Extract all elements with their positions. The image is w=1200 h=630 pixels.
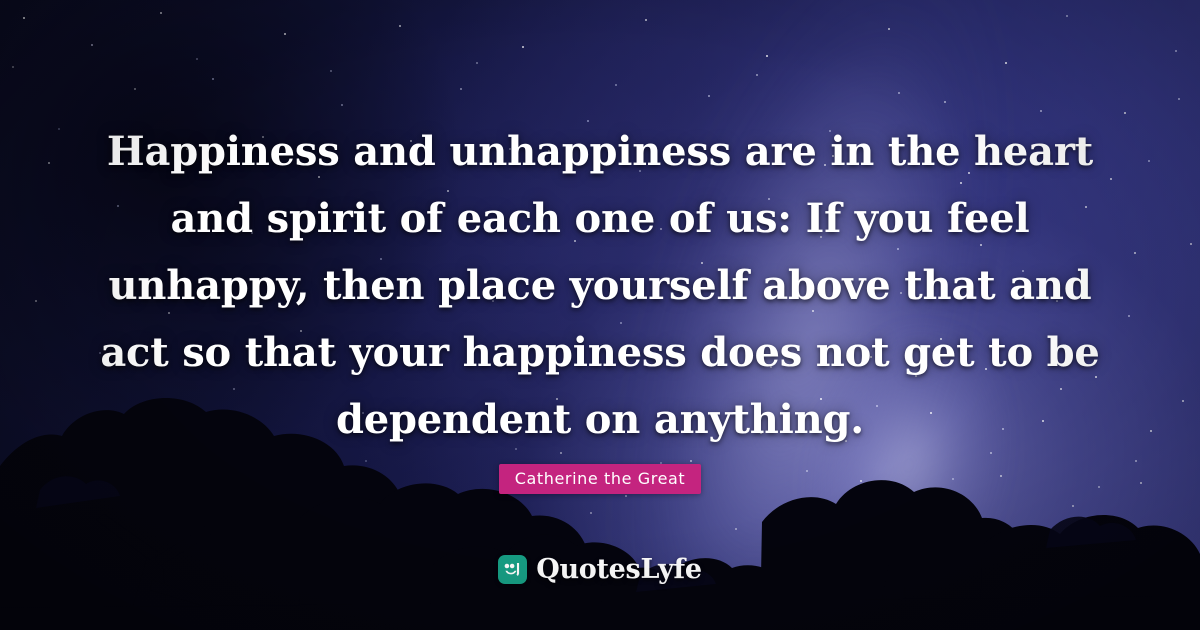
- quote-bubble-icon: [498, 555, 527, 584]
- quote-line-1: Happiness and unhappiness are in the hea…: [0, 118, 1200, 185]
- quote-line-5: dependent on anything.: [0, 386, 1200, 453]
- quote-card: Happiness and unhappiness are in the hea…: [0, 0, 1200, 630]
- quote-text-block: Happiness and unhappiness are in the hea…: [0, 118, 1200, 453]
- author-attribution: Catherine the Great: [0, 464, 1200, 494]
- site-branding: QuotesLyfe: [0, 554, 1200, 585]
- star-layer-dense-cluster: [0, 0, 2, 2]
- quote-line-2: and spirit of each one of us: If you fee…: [0, 185, 1200, 252]
- author-badge[interactable]: Catherine the Great: [499, 464, 702, 494]
- quote-line-3: unhappy, then place yourself above that …: [0, 252, 1200, 319]
- logo[interactable]: QuotesLyfe: [498, 554, 702, 585]
- logo-wordmark: QuotesLyfe: [536, 554, 702, 585]
- quote-line-4: act so that your happiness does not get …: [0, 319, 1200, 386]
